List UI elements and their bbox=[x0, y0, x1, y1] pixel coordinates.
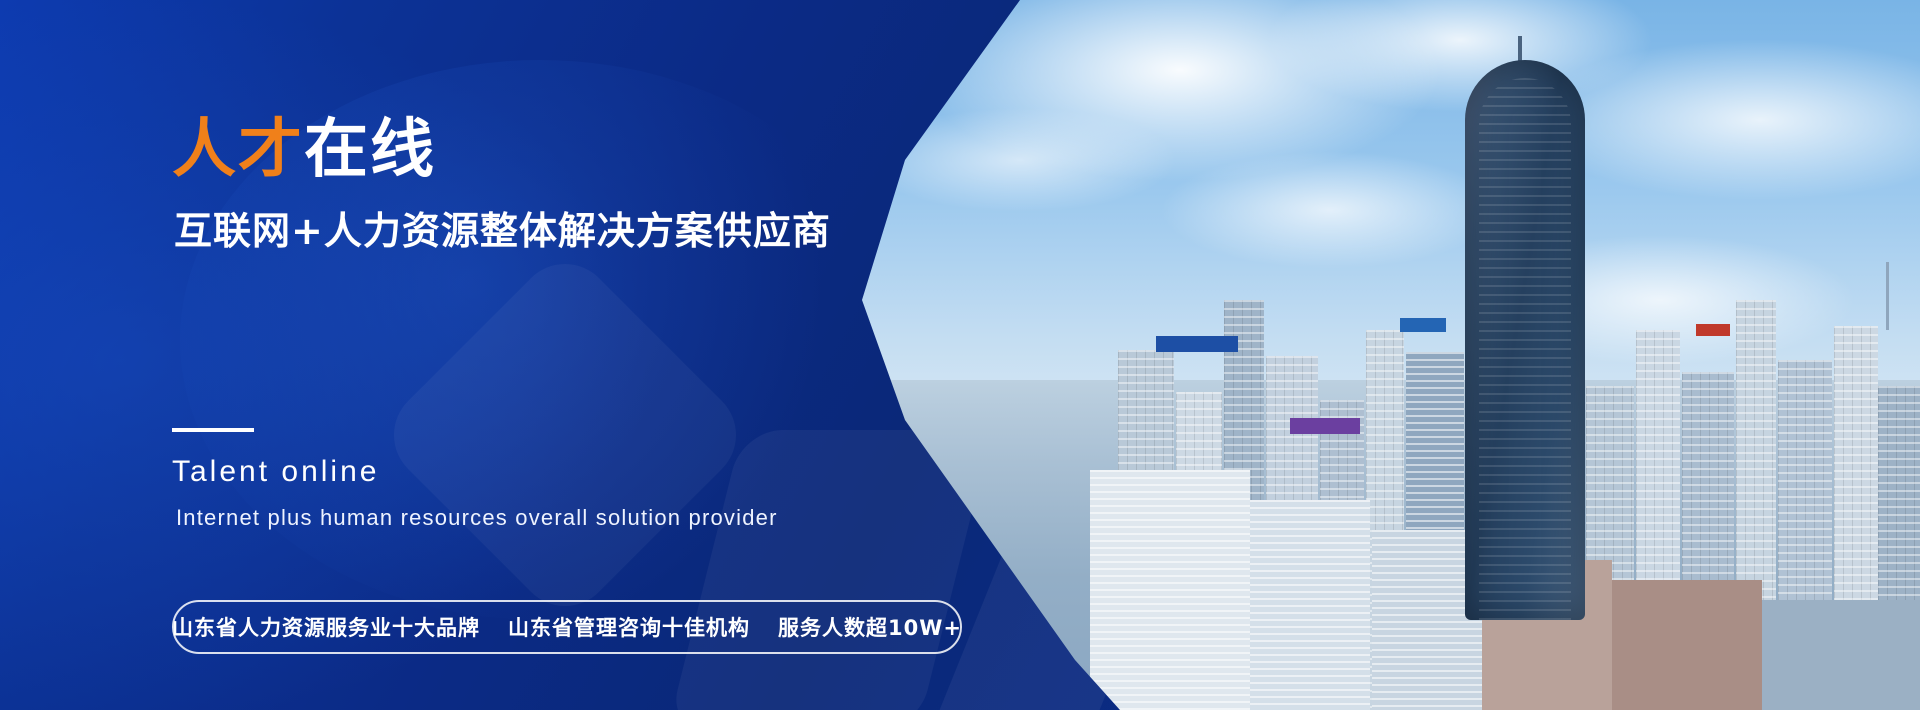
badge-item-1: 山东省人力资源服务业十大品牌 bbox=[172, 612, 480, 642]
billboard bbox=[1290, 418, 1360, 434]
banner-content: 人才在线 互联网+人力资源整体解决方案供应商 Talent online Int… bbox=[0, 0, 1270, 710]
brand-title-rest: 在线 bbox=[304, 113, 436, 187]
building-rooftop bbox=[1762, 600, 1920, 710]
antenna bbox=[1886, 262, 1889, 330]
english-heading: Talent online bbox=[172, 455, 379, 489]
billboard bbox=[1400, 318, 1446, 332]
credentials-pill: 山东省人力资源服务业十大品牌 山东省管理咨询十佳机构 服务人数超10W+ bbox=[172, 600, 962, 654]
badge-item-3: 服务人数超10W+ bbox=[778, 612, 962, 642]
landmark-tower bbox=[1465, 60, 1585, 620]
badge-item-2: 山东省管理咨询十佳机构 bbox=[508, 612, 750, 642]
billboard bbox=[1696, 324, 1730, 336]
credentials-list: 山东省人力资源服务业十大品牌 山东省管理咨询十佳机构 服务人数超10W+ bbox=[172, 612, 962, 642]
brand-subtitle: 互联网+人力资源整体解决方案供应商 bbox=[174, 200, 831, 255]
building-rooftop bbox=[1612, 580, 1762, 710]
brand-title-highlight: 人才 bbox=[172, 113, 304, 187]
hero-banner: 人才在线 互联网+人力资源整体解决方案供应商 Talent online Int… bbox=[0, 0, 1920, 710]
brand-title: 人才在线 bbox=[172, 118, 436, 182]
english-tagline: Internet plus human resources overall so… bbox=[176, 505, 778, 531]
section-divider bbox=[172, 428, 254, 432]
